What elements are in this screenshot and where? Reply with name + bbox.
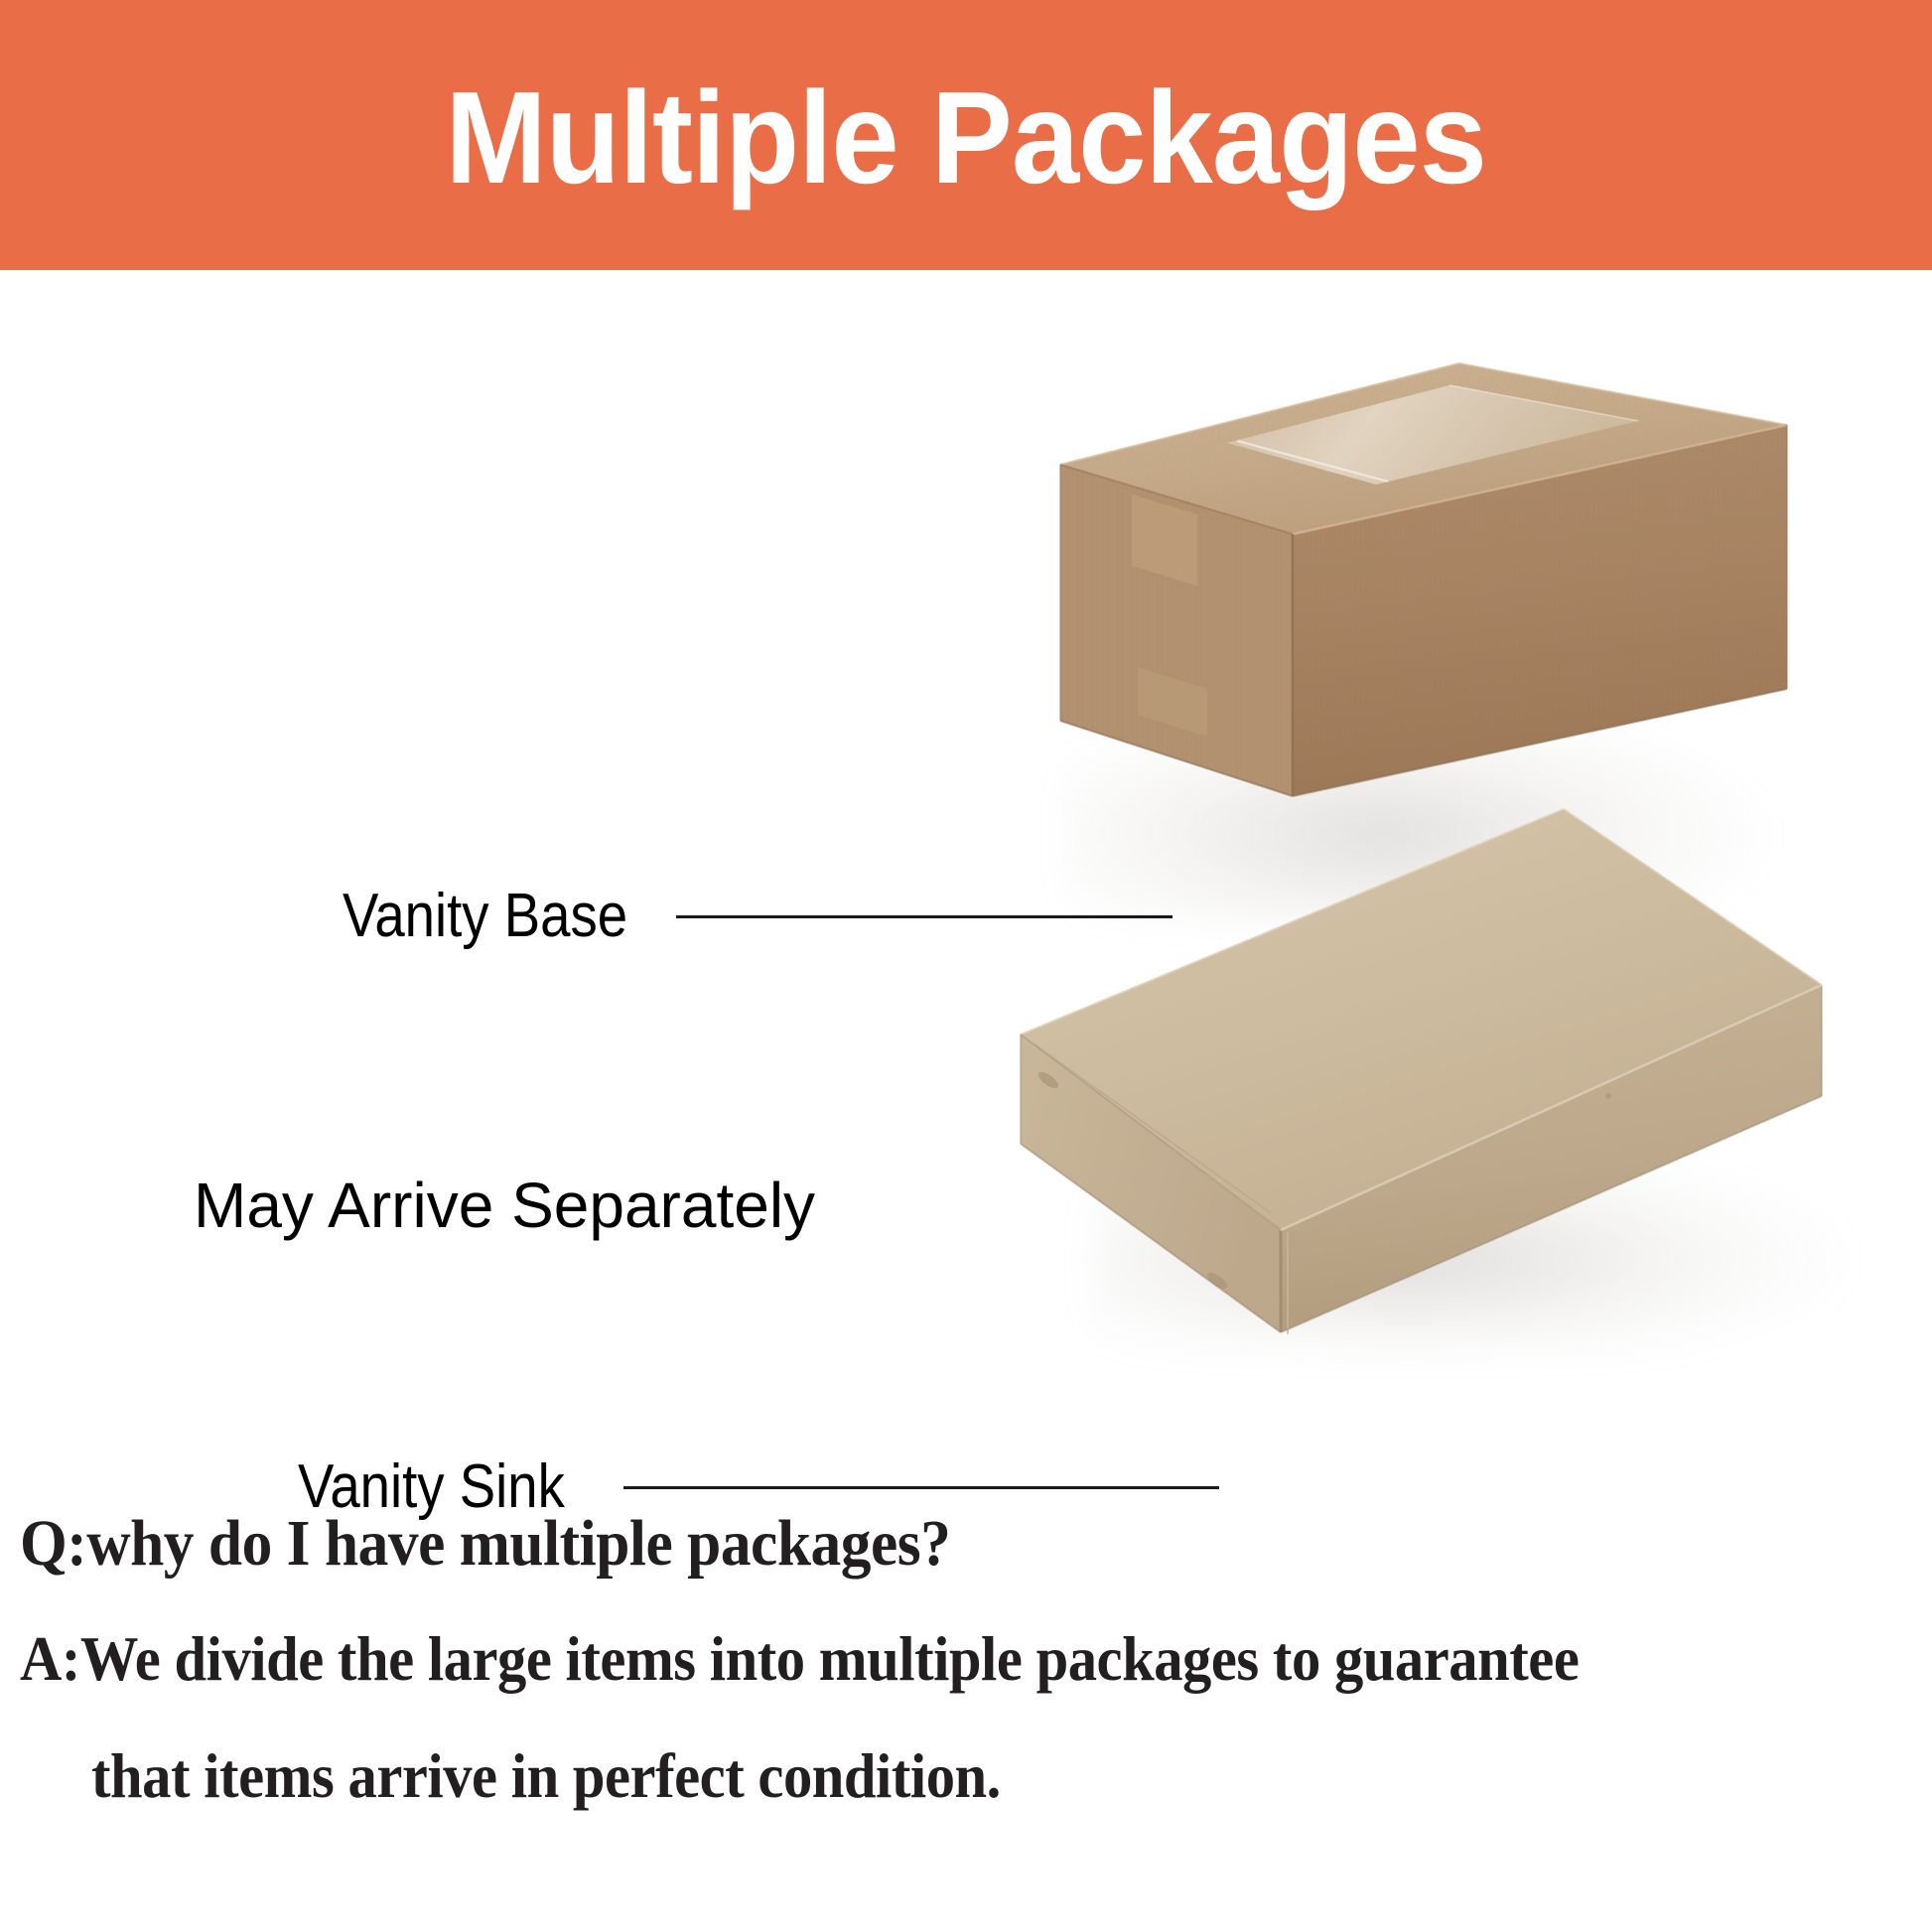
may-arrive-separately-label: May Arrive Separately: [194, 1170, 815, 1241]
faq-answer-line-2: that items arrive in perfect condition.: [91, 1745, 1001, 1808]
leader-line-vanity-base: [676, 915, 1173, 918]
may-arrive-separately-notice: May Arrive Separately: [194, 1173, 815, 1237]
faq-question: Q:why do I have multiple packages?: [20, 1511, 950, 1577]
faq-answer-line-1: A:We divide the large items into multipl…: [20, 1628, 1579, 1691]
vanity-sink-package-image: [973, 747, 1866, 1362]
callout-vanity-base: Vanity Base: [343, 886, 1173, 947]
callout-vanity-base-label: Vanity Base: [343, 886, 627, 947]
header-banner: Multiple Packages: [0, 0, 1932, 270]
cardboard-box-bottom-graphic: [973, 747, 1866, 1362]
page-title: Multiple Packages: [446, 72, 1487, 204]
product-photo-stage: Vanity Base May Arrive Separately Vanity…: [0, 270, 1932, 1461]
leader-line-vanity-sink: [623, 1486, 1219, 1489]
